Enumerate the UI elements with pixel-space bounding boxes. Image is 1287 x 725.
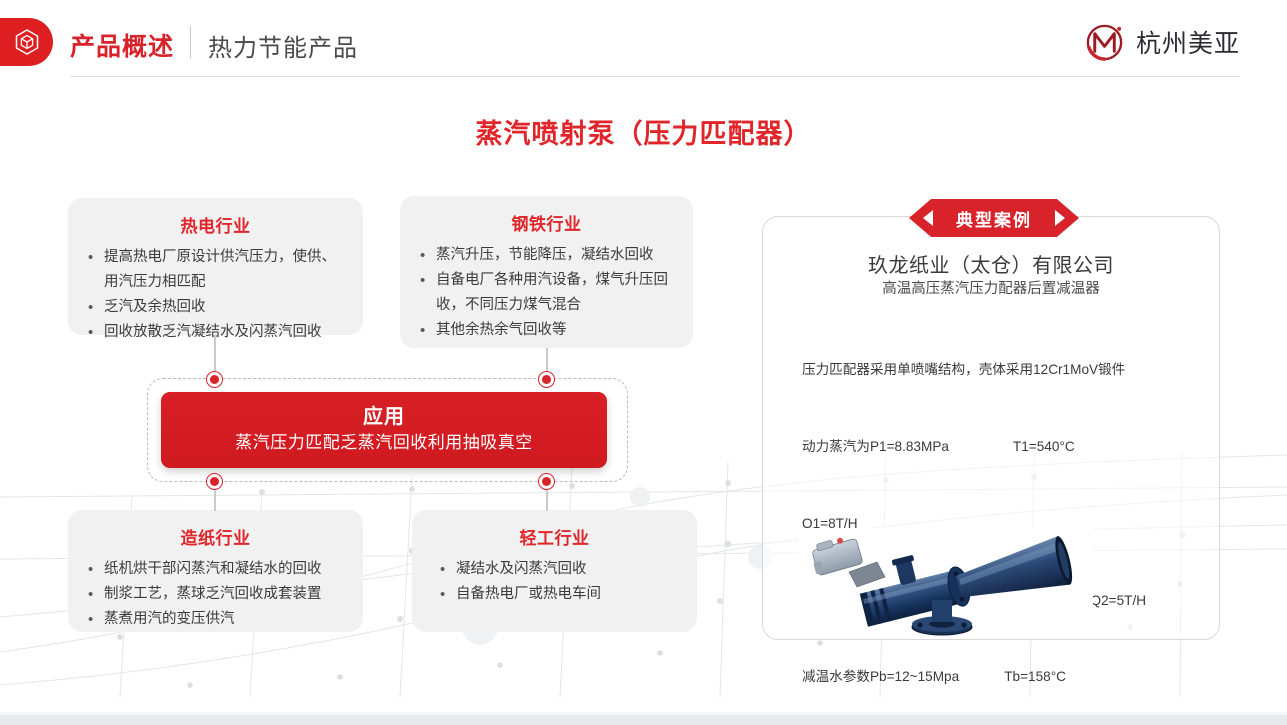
list-item: 自备热电厂或热电车间 [428,582,681,607]
card-title: 造纸行业 [84,524,347,549]
connector-node-top-right [538,371,555,388]
spec-line: 减温水参数Pb=12~15Mpa Tb=158°C [802,664,1212,690]
spec-line: 动力蒸汽为P1=8.83MPa T1=540°C [802,434,1212,460]
page-subtitle: 热力节能产品 [208,28,358,63]
industry-card-light-industry: 轻工行业 凝结水及闪蒸汽回收 自备热电厂或热电车间 [412,510,697,632]
application-subtitle: 蒸汽压力匹配乏蒸汽回收利用抽吸真空 [235,430,533,456]
header-badge [0,18,53,66]
list-item: 提高热电厂原设计供汽压力，使供、用汽压力相匹配 [84,245,347,295]
list-item: 自备电厂各种用汽设备，煤气升压回收，不同压力煤气混合 [416,268,677,318]
slide-canvas: 产品概述 热力节能产品 杭州美亚 蒸汽喷射泵（压力匹配器） 热电行业 提高热电厂… [0,0,1287,725]
connector-node-bottom-left [206,473,223,490]
case-study-banner: 典型案例 [909,199,1079,237]
header-rule [70,76,1240,77]
card-title: 钢铁行业 [416,210,677,235]
list-item: 蒸汽升压，节能降压，凝结水回收 [416,243,677,268]
cube-hexagon-icon [14,28,40,56]
card-bullet-list: 蒸汽升压，节能降压，凝结水回收 自备电厂各种用汽设备，煤气升压回收，不同压力煤气… [416,243,677,343]
industry-card-steel: 钢铁行业 蒸汽升压，节能降压，凝结水回收 自备电厂各种用汽设备，煤气升压回收，不… [400,196,693,348]
application-title: 应用 [363,404,405,430]
application-callout: 应用 蒸汽压力匹配乏蒸汽回收利用抽吸真空 [161,392,607,468]
card-bullet-list: 提高热电厂原设计供汽压力，使供、用汽压力相匹配 乏汽及余热回收 回收放散乏汽凝结… [84,245,347,345]
connector-line-bottom-right [546,489,548,511]
connector-line-top-right [546,348,548,372]
arrow-right-icon [1055,210,1065,226]
list-item: 回收放散乏汽凝结水及闪蒸汽回收 [84,320,347,345]
list-item: 纸机烘干部闪蒸汽和凝结水的回收 [84,557,347,582]
case-spec-list: 压力匹配器采用单喷嘴结构，壳体采用12Cr1MoV锻件 动力蒸汽为P1=8.83… [802,306,1212,725]
connector-line-top-left [214,335,216,372]
brand-name: 杭州美亚 [1136,24,1240,60]
brand-logo: 杭州美亚 [1084,20,1240,63]
card-title: 热电行业 [84,212,347,237]
connector-node-top-left [206,371,223,388]
list-item: 乏汽及余热回收 [84,295,347,320]
connector-node-bottom-right [538,473,555,490]
steam-ejector-pump-illustration [799,528,1093,638]
card-bullet-list: 凝结水及闪蒸汽回收 自备热电厂或热电车间 [428,557,681,607]
case-product-photo [799,528,1093,638]
list-item: 凝结水及闪蒸汽回收 [428,557,681,582]
case-subtitle: 高温高压蒸汽压力配器后置减温器 [762,277,1220,298]
header-divider [190,26,191,59]
page-title: 产品概述 [70,27,174,63]
card-title: 轻工行业 [428,524,681,549]
connector-line-bottom-left [214,489,216,511]
card-bullet-list: 纸机烘干部闪蒸汽和凝结水的回收 制浆工艺，蒸球乏汽回收成套装置 蒸煮用汽的变压供… [84,557,347,632]
case-company-name: 玖龙纸业（太仓）有限公司 [762,249,1220,278]
arrow-left-icon [923,210,933,226]
list-item: 蒸煮用汽的变压供汽 [84,607,347,632]
list-item: 其他余热余气回收等 [416,318,677,343]
list-item: 制浆工艺，蒸球乏汽回收成套装置 [84,582,347,607]
header: 产品概述 热力节能产品 杭州美亚 [0,0,1287,77]
industry-card-papermaking: 造纸行业 纸机烘干部闪蒸汽和凝结水的回收 制浆工艺，蒸球乏汽回收成套装置 蒸煮用… [68,510,363,632]
spec-line: 压力匹配器采用单喷嘴结构，壳体采用12Cr1MoV锻件 [802,357,1212,383]
case-study-banner-label: 典型案例 [956,206,1032,231]
meiya-m-logo-icon [1084,20,1127,63]
industry-card-thermal-power: 热电行业 提高热电厂原设计供汽压力，使供、用汽压力相匹配 乏汽及余热回收 回收放… [68,198,363,335]
slide-title: 蒸汽喷射泵（压力匹配器） [0,112,1287,151]
